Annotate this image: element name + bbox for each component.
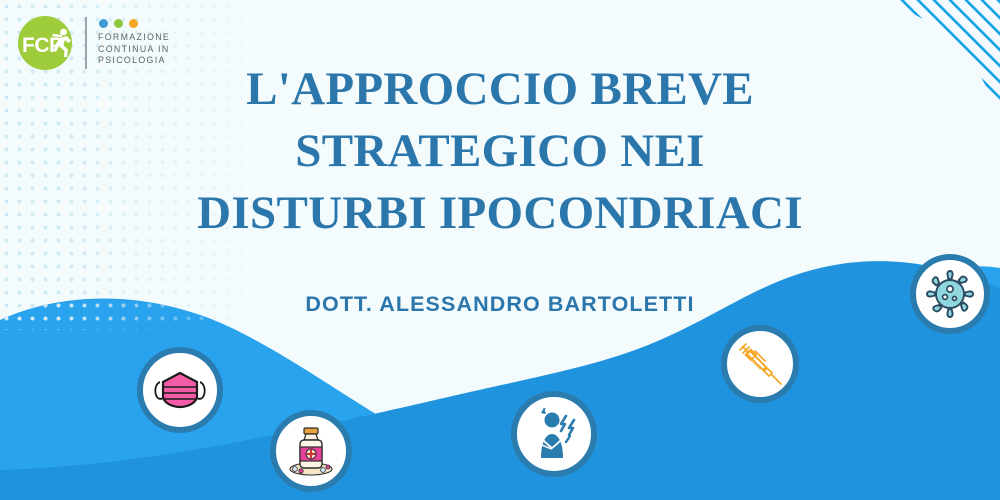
logo-divider [85, 17, 87, 69]
speaker-name: DOTT. ALESSANDRO BARTOLETTI [170, 292, 830, 317]
banner-root: FCP FORMAZIONE CONTINUA IN PSICOLOGIA L'… [0, 0, 1000, 500]
sick-person-icon [528, 408, 580, 460]
dot-orange [129, 19, 138, 28]
dot-green [114, 19, 123, 28]
face-mask-icon [153, 368, 207, 412]
badge-face-mask[interactable] [137, 347, 223, 433]
headline-line-2: STRATEGICO NEI [170, 120, 830, 182]
page-title: L'APPROCCIO BREVE STRATEGICO NEI DISTURB… [170, 58, 830, 244]
badge-syringe[interactable] [721, 325, 799, 403]
dot-blue [99, 19, 108, 28]
logo-line-3: PSICOLOGIA [98, 55, 170, 67]
badge-sick-person[interactable] [511, 391, 597, 477]
logo-line-1: FORMAZIONE [98, 32, 170, 44]
brand-logo[interactable]: FCP FORMAZIONE CONTINUA IN PSICOLOGIA [14, 12, 170, 74]
badge-virus[interactable] [910, 254, 990, 334]
logo-line-2: CONTINUA IN [98, 44, 170, 56]
headline-line-3: DISTURBI IPOCONDRIACI [170, 182, 830, 244]
logo-dots [98, 19, 170, 28]
logo-text-block: FORMAZIONE CONTINUA IN PSICOLOGIA [98, 19, 170, 68]
headline-line-1: L'APPROCCIO BREVE [170, 58, 830, 120]
fcp-logo-mark: FCP [14, 12, 80, 74]
medicine-bottle-icon [285, 425, 337, 477]
virus-icon [925, 269, 975, 319]
syringe-icon [736, 340, 784, 388]
badge-medicine-bottle[interactable] [270, 410, 352, 492]
